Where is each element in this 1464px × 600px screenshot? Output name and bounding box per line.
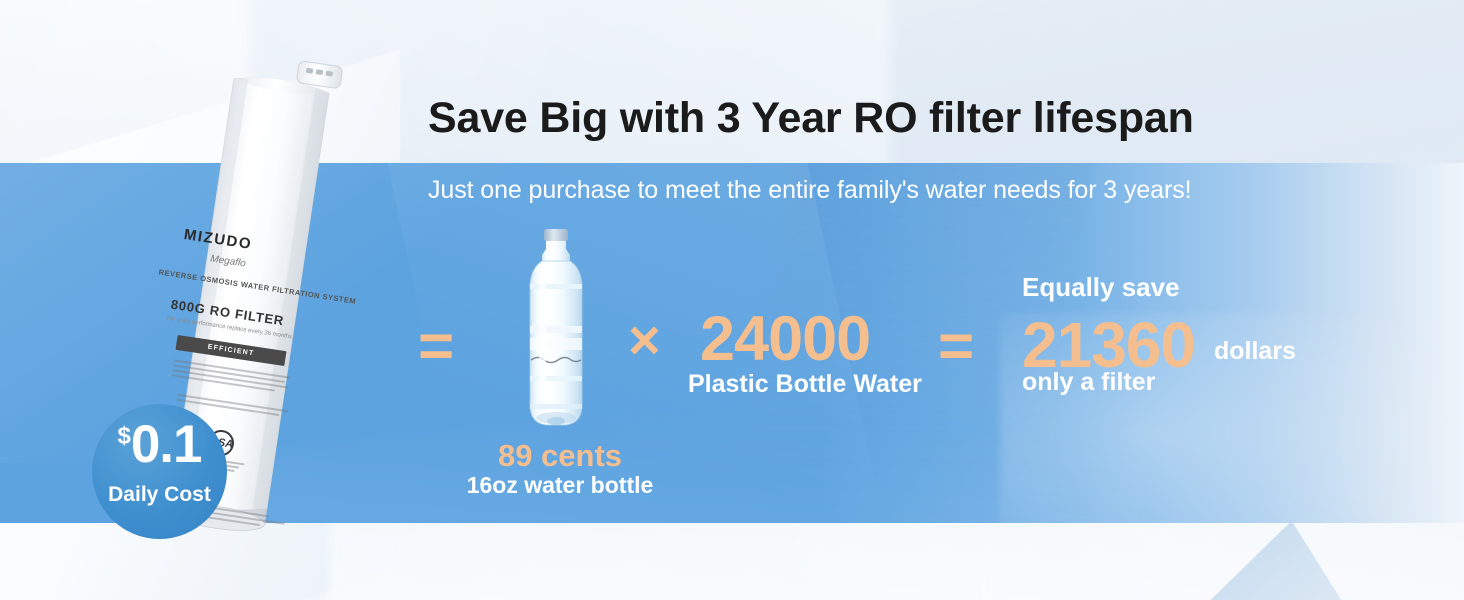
savings-suffix-label: only a filter [1022,370,1155,395]
savings-unit-label: dollars [1214,339,1296,364]
water-bottle-image [515,228,597,428]
equals-sign-icon: = [418,316,454,378]
badge-price-value: 0.1 [131,415,202,474]
daily-cost-badge: $0.1 Daily Cost [92,404,227,539]
badge-price: $0.1 [92,418,227,471]
savings-prefix-label: Equally save [1022,274,1180,300]
bottle-count-label: Plastic Bottle Water [688,372,922,397]
equals-sign-icon: = [938,316,974,378]
promo-banner: Save Big with 3 Year RO filter lifespan … [0,0,1464,600]
currency-symbol: $ [117,422,130,449]
bottle-count-value: 24000 [700,308,870,371]
bottle-price-label: 89 cents [440,440,680,471]
bottle-size-label: 16oz water bottle [440,474,680,497]
subtitle: Just one purchase to meet the entire fam… [428,178,1191,203]
page-title: Save Big with 3 Year RO filter lifespan [428,97,1194,140]
badge-label: Daily Cost [92,484,227,505]
multiply-sign-icon: × [628,312,661,368]
